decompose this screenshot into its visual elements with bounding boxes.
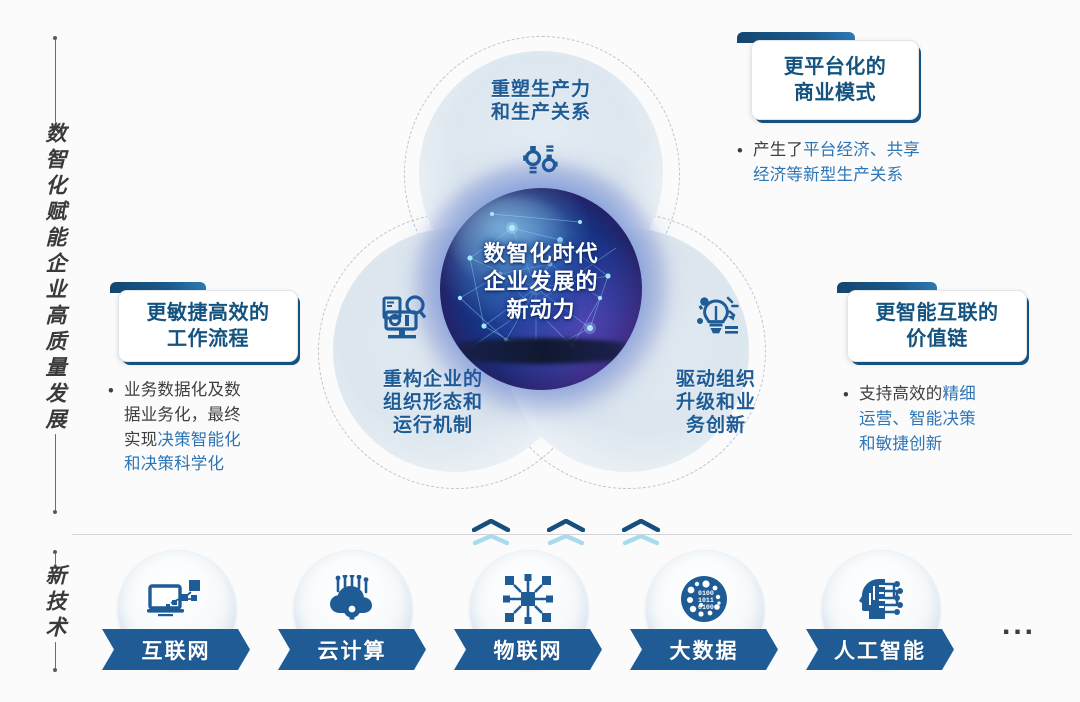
axis-line-lower bbox=[55, 434, 56, 510]
tech-label: 大数据 bbox=[670, 635, 739, 665]
iot-nodes-icon bbox=[469, 568, 587, 630]
chevron-up-1 bbox=[472, 519, 510, 547]
venn-right-label-line2: 升级和业 bbox=[636, 391, 796, 414]
callout-body-highlight: 精细 bbox=[943, 385, 976, 403]
callout-body-highlight: 决策智能化 bbox=[157, 431, 241, 449]
tech-item-iot[interactable]: 物联网 bbox=[454, 550, 602, 682]
axis-label-tech-text: 新技术 bbox=[40, 564, 70, 642]
tech-ribbon[interactable]: 物联网 bbox=[454, 629, 602, 670]
cloud-gear-icon bbox=[293, 568, 411, 630]
axis-label-main: 数智化赋能企业高质量发展 bbox=[40, 36, 70, 514]
callout-platform-business-model[interactable]: 更平台化的 商业模式 • 产生了平台经济、共享 经济等新型生产关系 bbox=[735, 32, 1005, 212]
callout-body-line3: 和敏捷创新 bbox=[843, 432, 1048, 457]
section-divider bbox=[72, 534, 1072, 535]
axis-line-lower-tech bbox=[55, 642, 56, 668]
center-title: 数智化时代 企业发展的 新动力 bbox=[440, 240, 642, 324]
callout-body-line1: 产生了平台经济、共享 bbox=[735, 138, 1003, 163]
more-indicator: ... bbox=[1002, 608, 1036, 642]
callout-agile-workflow[interactable]: 更敏捷高效的 工作流程 • 业务数据化及数 据业务化，最终 实现决策智能化 和决… bbox=[108, 282, 308, 492]
callout-title-box[interactable]: 更平台化的 商业模式 bbox=[751, 40, 919, 120]
svg-text:0100: 0100 bbox=[698, 590, 714, 597]
callout-title: 更智能互联的 价值链 bbox=[876, 300, 999, 352]
axis-line-upper-tech bbox=[55, 554, 56, 564]
venn-top-label-line1: 重塑生产力 bbox=[449, 78, 633, 101]
big-data-circle-icon: 0100 1011 0100 bbox=[645, 568, 763, 630]
venn-right-label: 驱动组织 升级和业 务创新 bbox=[636, 368, 796, 438]
callout-intelligent-value-chain[interactable]: 更智能互联的 价值链 • 支持高效的精细 运营、智能决策 和敏捷创新 bbox=[833, 282, 1048, 482]
center-title-line1: 数智化时代 bbox=[440, 240, 642, 268]
callout-title-line1: 更敏捷高效的 bbox=[147, 300, 270, 326]
callout-body-line2: 经济等新型生产关系 bbox=[735, 163, 1003, 188]
center-title-line2: 企业发展的 bbox=[440, 268, 642, 296]
callout-body-line2: 据业务化，最终 bbox=[108, 403, 308, 428]
tech-label: 互联网 bbox=[142, 635, 211, 665]
svg-text:0100: 0100 bbox=[698, 604, 714, 611]
callout-body-highlight: 平台经济、共享 bbox=[803, 141, 920, 159]
callout-body-line2: 运营、智能决策 bbox=[843, 407, 1048, 432]
callout-bullet: • bbox=[108, 379, 114, 404]
tech-item-internet[interactable]: 互联网 bbox=[102, 550, 250, 682]
callout-title-line2: 价值链 bbox=[876, 326, 999, 352]
callout-title-line1: 更智能互联的 bbox=[876, 300, 999, 326]
chevron-up-2 bbox=[547, 519, 585, 547]
callout-body-plain: 实现 bbox=[124, 431, 157, 449]
callout-bullet: • bbox=[737, 139, 743, 164]
tech-label: 物联网 bbox=[494, 635, 563, 665]
callout-title-line2: 商业模式 bbox=[784, 80, 887, 106]
chevron-dark bbox=[622, 519, 660, 532]
venn-left-label-line3: 运行机制 bbox=[353, 414, 513, 437]
axis-label-tech: 新技术 bbox=[40, 550, 70, 672]
callout-body: • 支持高效的精细 运营、智能决策 和敏捷创新 bbox=[843, 382, 1048, 456]
tech-label: 云计算 bbox=[318, 635, 387, 665]
tech-item-big-data[interactable]: 0100 1011 0100 大数据 bbox=[630, 550, 778, 682]
callout-bullet: • bbox=[843, 383, 849, 408]
callout-title-box[interactable]: 更智能互联的 价值链 bbox=[847, 290, 1027, 362]
tech-item-cloud-computing[interactable]: 云计算 bbox=[278, 550, 426, 682]
callout-title-box[interactable]: 更敏捷高效的 工作流程 bbox=[118, 290, 298, 362]
callout-title: 更平台化的 商业模式 bbox=[784, 54, 887, 106]
axis-line-upper bbox=[55, 40, 56, 122]
venn-right-label-line1: 驱动组织 bbox=[636, 368, 796, 391]
callout-body-line3: 实现决策智能化 bbox=[108, 428, 308, 453]
venn-right-label-line3: 务创新 bbox=[636, 414, 796, 437]
axis-dot-bottom-tech bbox=[53, 668, 57, 672]
lightbulb-innovation-icon bbox=[690, 294, 742, 347]
tech-ribbon[interactable]: 大数据 bbox=[630, 629, 778, 670]
sphere-base-shadow bbox=[440, 338, 642, 364]
callout-body-line1: 支持高效的精细 bbox=[843, 382, 1048, 407]
chevron-dark bbox=[547, 519, 585, 532]
callout-body: • 产生了平台经济、共享 经济等新型生产关系 bbox=[735, 138, 1003, 188]
tech-ribbon[interactable]: 互联网 bbox=[102, 629, 250, 670]
axis-label-main-text: 数智化赋能企业高质量发展 bbox=[40, 122, 70, 434]
callout-title: 更敏捷高效的 工作流程 bbox=[147, 300, 270, 352]
callout-title-line2: 工作流程 bbox=[147, 326, 270, 352]
tech-ribbon[interactable]: 人工智能 bbox=[806, 629, 954, 670]
chevron-dark bbox=[472, 519, 510, 532]
axis-dot-bottom bbox=[53, 510, 57, 514]
venn-top-label: 重塑生产力 和生产关系 bbox=[449, 78, 633, 124]
tech-label: 人工智能 bbox=[834, 635, 926, 665]
ai-head-circuit-icon bbox=[821, 568, 939, 630]
infographic-canvas: 数智化赋能企业高质量发展 新技术 重塑生产力 和生产关系 bbox=[0, 0, 1080, 702]
callout-body-line4: 和决策科学化 bbox=[108, 452, 308, 477]
callout-body-plain: 支持高效的 bbox=[859, 385, 943, 403]
callout-title-line1: 更平台化的 bbox=[784, 54, 887, 80]
chevron-up-3 bbox=[622, 519, 660, 547]
callout-body-line1: 业务数据化及数 bbox=[108, 378, 308, 403]
svg-text:1011: 1011 bbox=[698, 597, 714, 604]
callout-body-plain: 产生了 bbox=[753, 141, 803, 159]
venn-top-label-line2: 和生产关系 bbox=[449, 101, 633, 124]
callout-body: • 业务数据化及数 据业务化，最终 实现决策智能化 和决策科学化 bbox=[108, 378, 308, 477]
center-title-line3: 新动力 bbox=[440, 296, 642, 324]
tech-item-ai[interactable]: 人工智能 bbox=[806, 550, 954, 682]
laptop-network-icon bbox=[117, 568, 235, 630]
tech-ribbon[interactable]: 云计算 bbox=[278, 629, 426, 670]
